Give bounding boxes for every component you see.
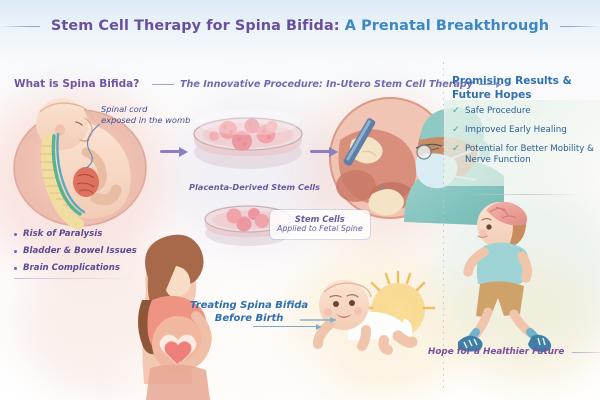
risk-list: Risk of Paralysis Bladder & Bowel Issues… [14,229,137,280]
caption-line-1: Treating Spina Bifida [190,300,308,313]
section-heading-what-is-spina-bifida: What is Spina Bifida? [14,78,139,90]
stem-cell-clusters [209,119,278,152]
results-list: ✓ Safe Procedure ✓ Improved Early Healin… [452,106,598,174]
section-heading-promising-results: Promising Results & Future Hopes [452,74,592,102]
title-part-one: Stem Cell Therapy for Spina Bifida: [51,18,340,34]
decorative-arrow-head [330,317,336,323]
annotation-line-1: Spinal cord [101,104,190,115]
check-icon: ✓ [452,125,460,136]
result-label: Safe Procedure [465,106,531,117]
list-item: ✓ Safe Procedure [452,106,598,117]
spine-vertebrae [40,134,84,224]
tagline: Hope for a Healthier Future [428,347,600,357]
wash-blob [440,180,600,360]
list-item: ✓ Improved Early Healing [452,125,598,136]
page-title: Stem Cell Therapy for Spina Bifida: A Pr… [0,18,600,34]
wash-blob [455,260,600,390]
tagline-rule [572,352,600,353]
result-label: Potential for Better Mobility & Nerve Fu… [465,144,598,166]
list-item: Risk of Paralysis [14,229,137,239]
annotation-leader-line [86,124,100,168]
illustration-layer [0,0,600,400]
tagline-text: Hope for a Healthier Future [428,347,564,357]
caption-line-2: Before Birth [190,313,308,326]
caption-treating-before-birth: Treating Spina Bifida Before Birth [190,300,308,325]
callout-line-1: Stem Cells [277,214,363,224]
caption-arrow-icon [253,326,321,327]
title-rule-right [560,26,600,27]
section-divider-right [470,194,580,195]
result-label: Improved Early Healing [465,125,567,136]
crawling-baby-illustration [318,280,412,350]
check-icon: ✓ [452,106,460,117]
risk-list-items: Risk of Paralysis Bladder & Bowel Issues… [14,229,137,273]
wash-blob [120,330,340,400]
section-heading-procedure: The Innovative Procedure: In-Utero Stem … [152,79,501,90]
list-item: ✓ Potential for Better Mobility & Nerve … [452,144,598,166]
title-part-two: A Prenatal Breakthrough [340,18,549,34]
section-divider-left [14,278,134,279]
petri-dish-upper-illustration [194,109,302,169]
caption-placenta-derived-stem-cells: Placenta-Derived Stem Cells [189,182,320,192]
sun-illustration [362,272,434,337]
list-item: Brain Complications [14,263,137,273]
check-icon: ✓ [452,144,460,166]
flow-arrow-one-icon [160,148,188,155]
annotation-spinal-cord: Spinal cord exposed in the womb [101,104,190,126]
list-item: Bladder & Bowel Issues [14,246,137,256]
annotation-line-2: exposed in the womb [101,115,190,126]
heading-rule-left [152,84,174,85]
section-heading-procedure-text: The Innovative Procedure: In-Utero Stem … [180,79,473,90]
title-rule-left [0,26,40,27]
title-text: Stem Cell Therapy for Spina Bifida: A Pr… [51,18,549,34]
callout-stem-cells-applied: Stem Cells Applied to Fetal Spine [270,210,370,239]
syringe-icon [343,117,393,198]
infographic-canvas: Stem Cell Therapy for Spina Bifida: A Pr… [0,0,600,400]
walking-toddler-illustration [458,202,551,352]
callout-line-2: Applied to Fetal Spine [277,224,363,234]
flow-arrow-two-icon [310,148,338,155]
